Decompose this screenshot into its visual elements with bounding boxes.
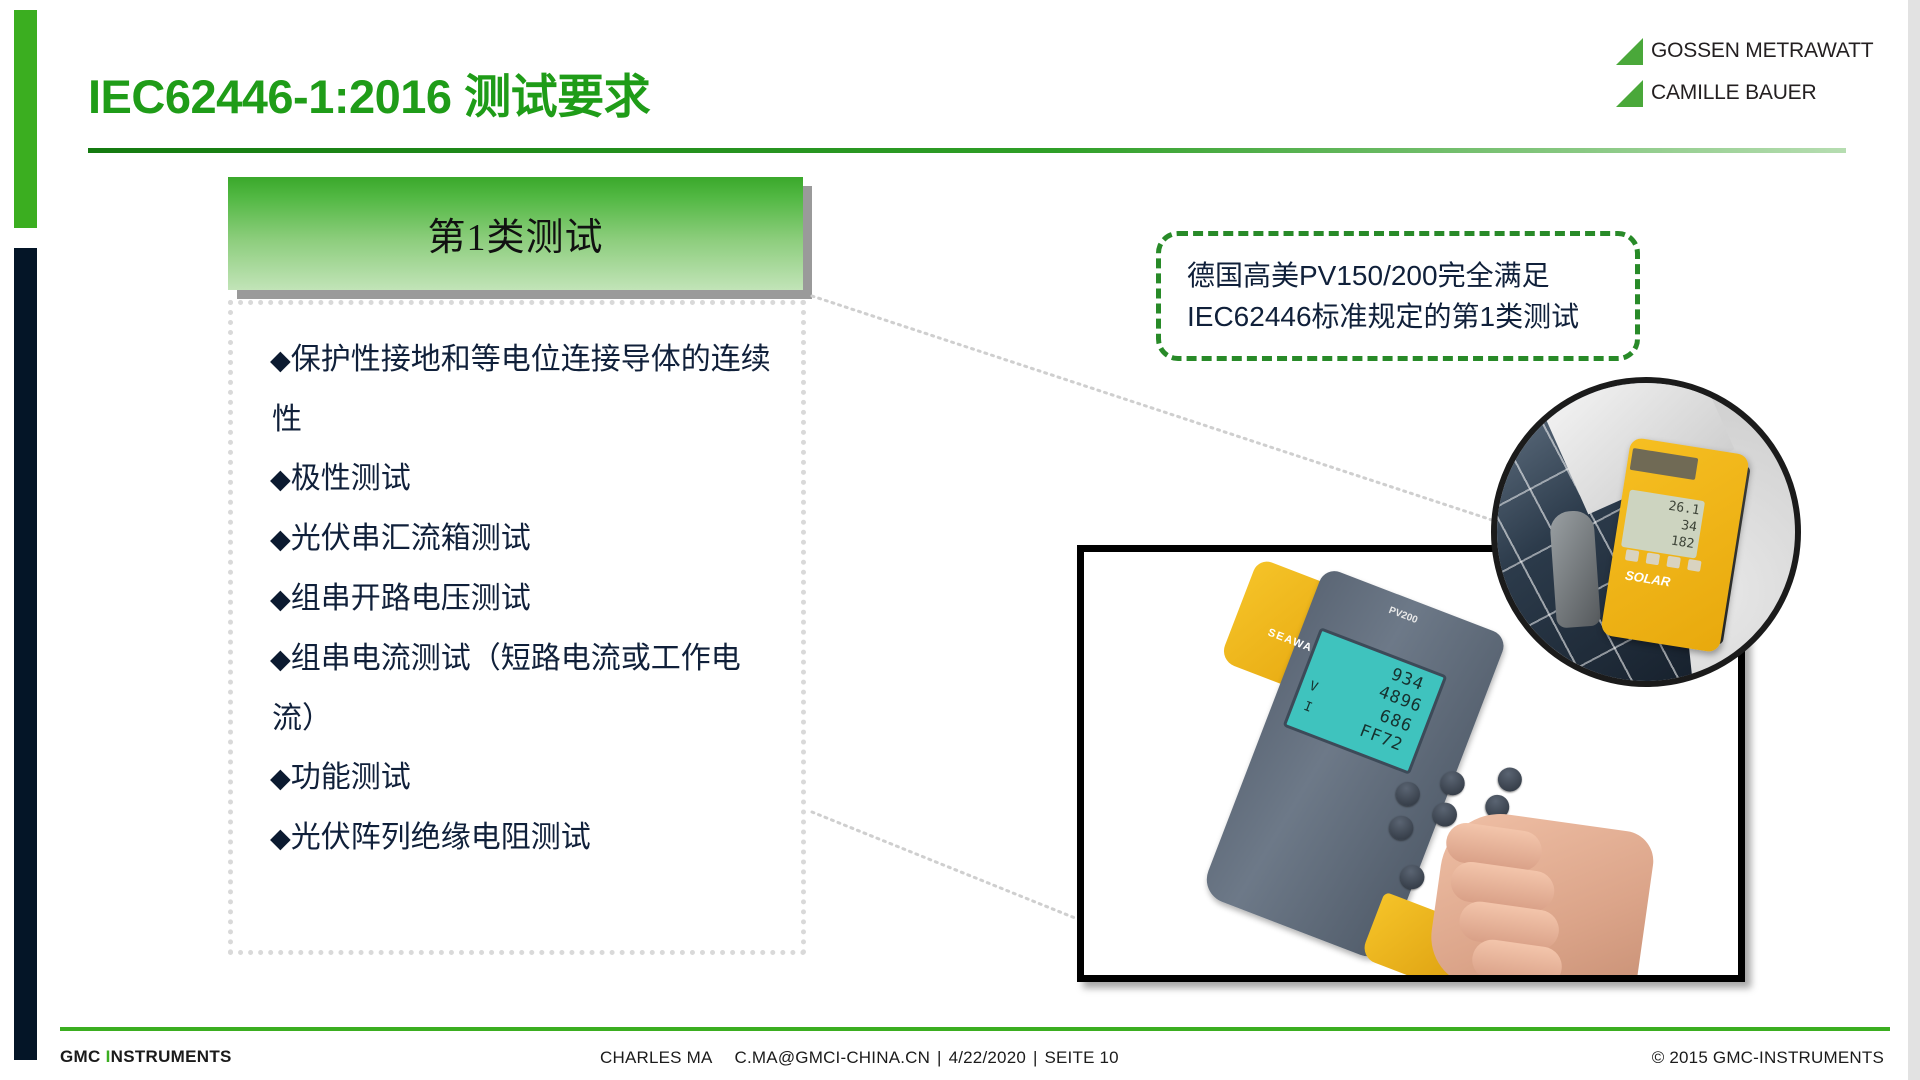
device-lcd-row1: 26.1 — [1667, 499, 1700, 519]
footer-divider — [60, 1027, 1890, 1031]
footer-author: CHARLES MA — [600, 1048, 713, 1067]
lcd-label-current: I — [1301, 699, 1315, 716]
list-item: ◆组串开路电压测试 — [272, 569, 772, 629]
list-item: ◆保护性接地和等电位连接导体的连续性 — [272, 330, 772, 449]
diamond-bullet-icon: ◆ — [270, 345, 291, 375]
footer-meta: CHARLES MAC.MA@GMCI-CHINA.CN | 4/22/2020… — [600, 1048, 1119, 1068]
list-item-label: 功能测试 — [291, 761, 411, 794]
footer-email: C.MA@GMCI-CHINA.CN — [735, 1048, 931, 1067]
list-item-label: 组串电流测试（短路电流或工作电流） — [272, 642, 741, 735]
list-item-label: 光伏串汇流箱测试 — [291, 522, 531, 555]
page-title: IEC62446-1:2016 测试要求 — [88, 58, 650, 127]
logo-label-camille: CAMILLE BAUER — [1651, 81, 1816, 105]
triangle-icon — [1616, 80, 1643, 107]
callout-line-2: IEC62446标准规定的第1类测试 — [1187, 296, 1609, 337]
device-lcd-row3: 182 — [1670, 534, 1696, 552]
category-card: 第1类测试 — [228, 177, 803, 290]
list-item: ◆功能测试 — [272, 748, 772, 808]
footer-page: SEITE 10 — [1044, 1048, 1118, 1067]
footer-brand-prefix: GMC — [60, 1047, 106, 1066]
keypad-button[interactable] — [1494, 764, 1525, 795]
keypad-button[interactable] — [1397, 862, 1428, 893]
list-item-label: 极性测试 — [291, 462, 411, 495]
keypad-button[interactable] — [1386, 812, 1417, 843]
triangle-icon — [1616, 38, 1643, 65]
device-lcd-row2: 34 — [1680, 518, 1698, 535]
diamond-bullet-icon: ◆ — [270, 524, 291, 554]
sidebar-accent-green — [14, 10, 37, 228]
right-edge-strip — [1908, 0, 1920, 1080]
hand-holding-device — [1425, 806, 1657, 982]
list-item-label: 组串开路电压测试 — [291, 582, 531, 615]
keypad-button[interactable] — [1392, 778, 1423, 809]
lcd-label-voltage: V — [1307, 679, 1321, 696]
brand-logo: GOSSEN METRAWATT CAMILLE BAUER — [1616, 34, 1846, 118]
callout-line-1: 德国高美PV150/200完全满足 — [1187, 255, 1609, 296]
test-requirement-list: ◆保护性接地和等电位连接导体的连续性 ◆极性测试 ◆光伏串汇流箱测试 ◆组串开路… — [272, 330, 772, 868]
device-button[interactable] — [1646, 552, 1661, 565]
logo-row-camille: CAMILLE BAUER — [1616, 76, 1846, 110]
footer-separator-1: | — [932, 1048, 946, 1067]
device-button[interactable] — [1666, 556, 1681, 569]
list-item: ◆极性测试 — [272, 449, 772, 509]
diamond-bullet-icon: ◆ — [270, 823, 291, 853]
device-button[interactable] — [1625, 549, 1640, 562]
device-lcd-screen: 26.1 34 182 — [1621, 489, 1705, 558]
sidebar-accent-dark — [14, 248, 37, 1060]
diamond-bullet-icon: ◆ — [270, 763, 291, 793]
title-underline — [88, 148, 1846, 153]
footer-separator-2: | — [1028, 1048, 1042, 1067]
footer-brand: GMC INSTRUMENTS — [60, 1047, 232, 1067]
list-item: ◆组串电流测试（短路电流或工作电流） — [272, 629, 772, 748]
callout-box: 德国高美PV150/200完全满足 IEC62446标准规定的第1类测试 — [1156, 231, 1640, 361]
diamond-bullet-icon: ◆ — [270, 644, 291, 674]
panel-clamp — [1549, 510, 1601, 629]
list-item: ◆光伏串汇流箱测试 — [272, 509, 772, 569]
device-button[interactable] — [1687, 559, 1702, 572]
list-item-label: 光伏阵列绝缘电阻测试 — [291, 821, 591, 854]
keypad-button[interactable] — [1437, 768, 1468, 799]
logo-label-gossen: GOSSEN METRAWATT — [1651, 39, 1873, 63]
diamond-bullet-icon: ◆ — [270, 584, 291, 614]
footer-date: 4/22/2020 — [949, 1048, 1026, 1067]
inset-circular-photo: 26.1 34 182 SOLAR — [1491, 377, 1801, 687]
list-item: ◆光伏阵列绝缘电阻测试 — [272, 808, 772, 868]
category-card-label: 第1类测试 — [427, 206, 603, 261]
footer-brand-suffix: NSTRUMENTS — [111, 1047, 232, 1066]
footer-copyright: © 2015 GMC-INSTRUMENTS — [1652, 1048, 1884, 1068]
list-item-label: 保护性接地和等电位连接导体的连续性 — [272, 343, 771, 436]
diamond-bullet-icon: ◆ — [270, 464, 291, 494]
logo-row-gossen: GOSSEN METRAWATT — [1616, 34, 1846, 68]
